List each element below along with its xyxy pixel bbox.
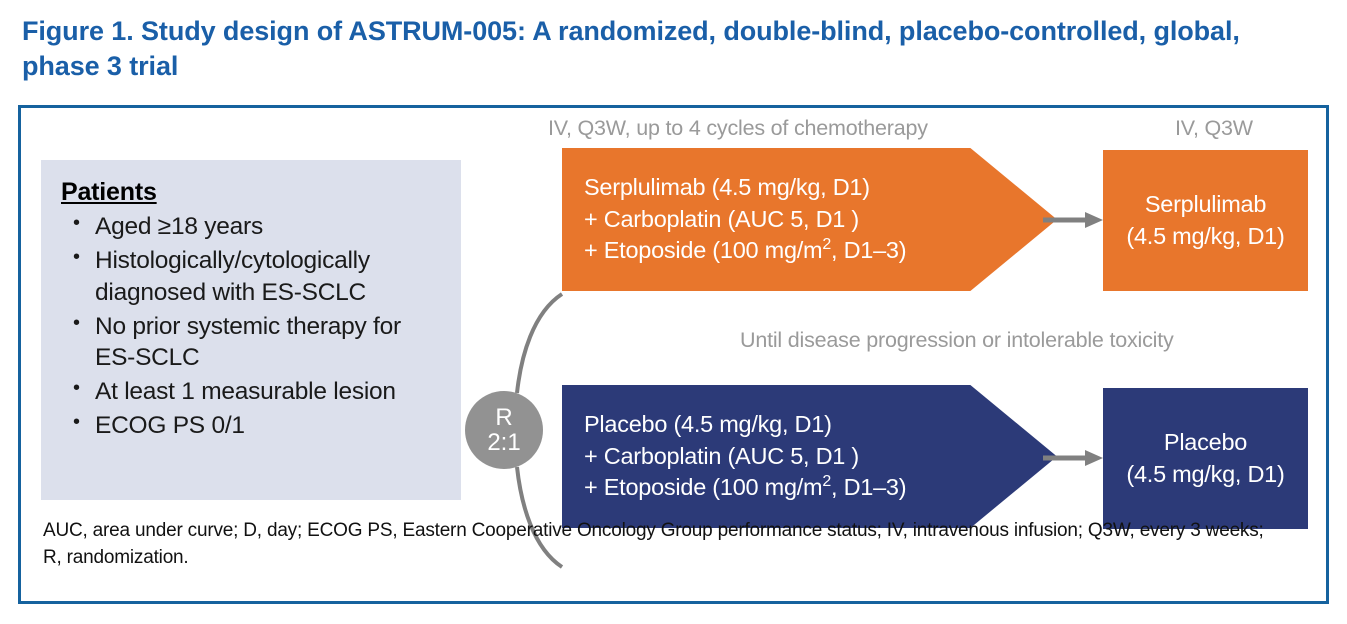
list-item: ECOG PS 0/1 (61, 410, 447, 442)
arm-line-3a: + Etoposide (100 mg/m (584, 474, 822, 500)
footnote-abbreviations: AUC, area under curve; D, day; ECOG PS, … (43, 518, 1283, 572)
arm-line-1: Serplulimab (4.5 mg/kg, D1) (584, 174, 870, 200)
page-title: Figure 1. Study design of ASTRUM-005: A … (22, 14, 1312, 83)
link-arrow-placebo-icon (1043, 447, 1105, 469)
list-item: No prior systemic therapy for ES-SCLC (61, 311, 447, 375)
patients-criteria-list: Aged ≥18 years Histologically/cytologica… (61, 211, 447, 442)
randomization-node: R 2:1 (465, 391, 543, 469)
figure-panel: Patients Aged ≥18 years Histologically/c… (18, 105, 1329, 604)
list-item: Aged ≥18 years (61, 211, 447, 243)
arm-line-2: + Carboplatin (AUC 5, D1 ) (584, 443, 859, 469)
maintenance-box-serplulimab: Serplulimab (4.5 mg/kg, D1) (1103, 150, 1308, 291)
maintenance-drug-name: Serplulimab (1145, 189, 1266, 221)
arm-line-2: + Carboplatin (AUC 5, D1 ) (584, 206, 859, 232)
arm-line-3-superscript: 2 (822, 474, 831, 491)
link-arrow-serplulimab-icon (1043, 209, 1105, 231)
treatment-arm-serplulimab-text: Serplulimab (4.5 mg/kg, D1) + Carboplati… (562, 172, 906, 268)
maintenance-dose: (4.5 mg/kg, D1) (1126, 459, 1284, 491)
list-item: Histologically/cytologically diagnosed w… (61, 245, 447, 309)
caption-chemotherapy: IV, Q3W, up to 4 cycles of chemotherapy (548, 116, 928, 141)
arm-line-3b: , D1–3) (831, 474, 906, 500)
treatment-arm-placebo-text: Placebo (4.5 mg/kg, D1) + Carboplatin (A… (562, 409, 906, 505)
caption-until-progression: Until disease progression or intolerable… (740, 328, 1174, 353)
treatment-arm-placebo: Placebo (4.5 mg/kg, D1) + Carboplatin (A… (562, 385, 1057, 528)
arm-line-3-superscript: 2 (822, 237, 831, 254)
patients-box: Patients Aged ≥18 years Histologically/c… (41, 160, 461, 500)
caption-maintenance: IV, Q3W (1175, 116, 1253, 141)
list-item: At least 1 measurable lesion (61, 376, 447, 408)
maintenance-drug-name: Placebo (1164, 427, 1247, 459)
arm-line-3a: + Etoposide (100 mg/m (584, 237, 822, 263)
maintenance-box-placebo: Placebo (4.5 mg/kg, D1) (1103, 388, 1308, 529)
randomization-label: R (495, 405, 512, 430)
randomization-ratio: 2:1 (487, 430, 520, 455)
maintenance-dose: (4.5 mg/kg, D1) (1126, 221, 1284, 253)
patients-heading: Patients (61, 178, 447, 207)
arm-line-1: Placebo (4.5 mg/kg, D1) (584, 411, 832, 437)
treatment-arm-serplulimab: Serplulimab (4.5 mg/kg, D1) + Carboplati… (562, 148, 1057, 291)
arm-line-3b: , D1–3) (831, 237, 906, 263)
